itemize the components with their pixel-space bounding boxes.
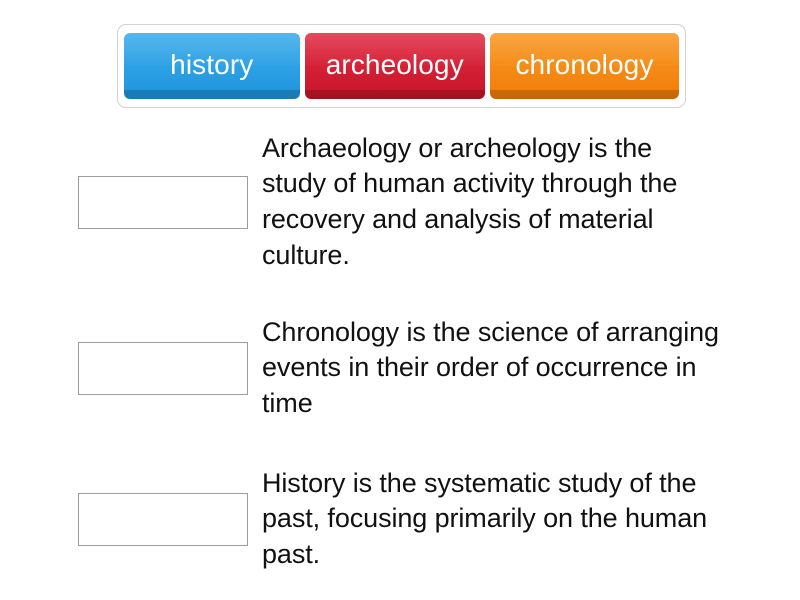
tile-label: chronology bbox=[515, 51, 653, 79]
definition-rows: Archaeology or archeology is the study o… bbox=[0, 122, 800, 600]
word-bank-tray: history archeology chronology bbox=[117, 24, 686, 108]
definition-text-3: History is the systematic study of the p… bbox=[262, 466, 722, 573]
match-row: History is the systematic study of the p… bbox=[0, 454, 800, 584]
drop-zone-1[interactable] bbox=[78, 176, 248, 229]
drop-zone-3[interactable] bbox=[78, 493, 248, 546]
draggable-tile-chronology[interactable]: chronology bbox=[490, 33, 679, 99]
draggable-tile-archeology[interactable]: archeology bbox=[305, 33, 485, 99]
tile-label: archeology bbox=[326, 51, 464, 79]
draggable-tile-history[interactable]: history bbox=[124, 33, 300, 99]
definition-text-2: Chronology is the science of arranging e… bbox=[262, 315, 722, 422]
drop-zone-2[interactable] bbox=[78, 342, 248, 395]
definition-text-1: Archaeology or archeology is the study o… bbox=[262, 131, 722, 274]
match-row: Archaeology or archeology is the study o… bbox=[0, 122, 800, 282]
tile-label: history bbox=[170, 51, 253, 79]
match-row: Chronology is the science of arranging e… bbox=[0, 298, 800, 438]
